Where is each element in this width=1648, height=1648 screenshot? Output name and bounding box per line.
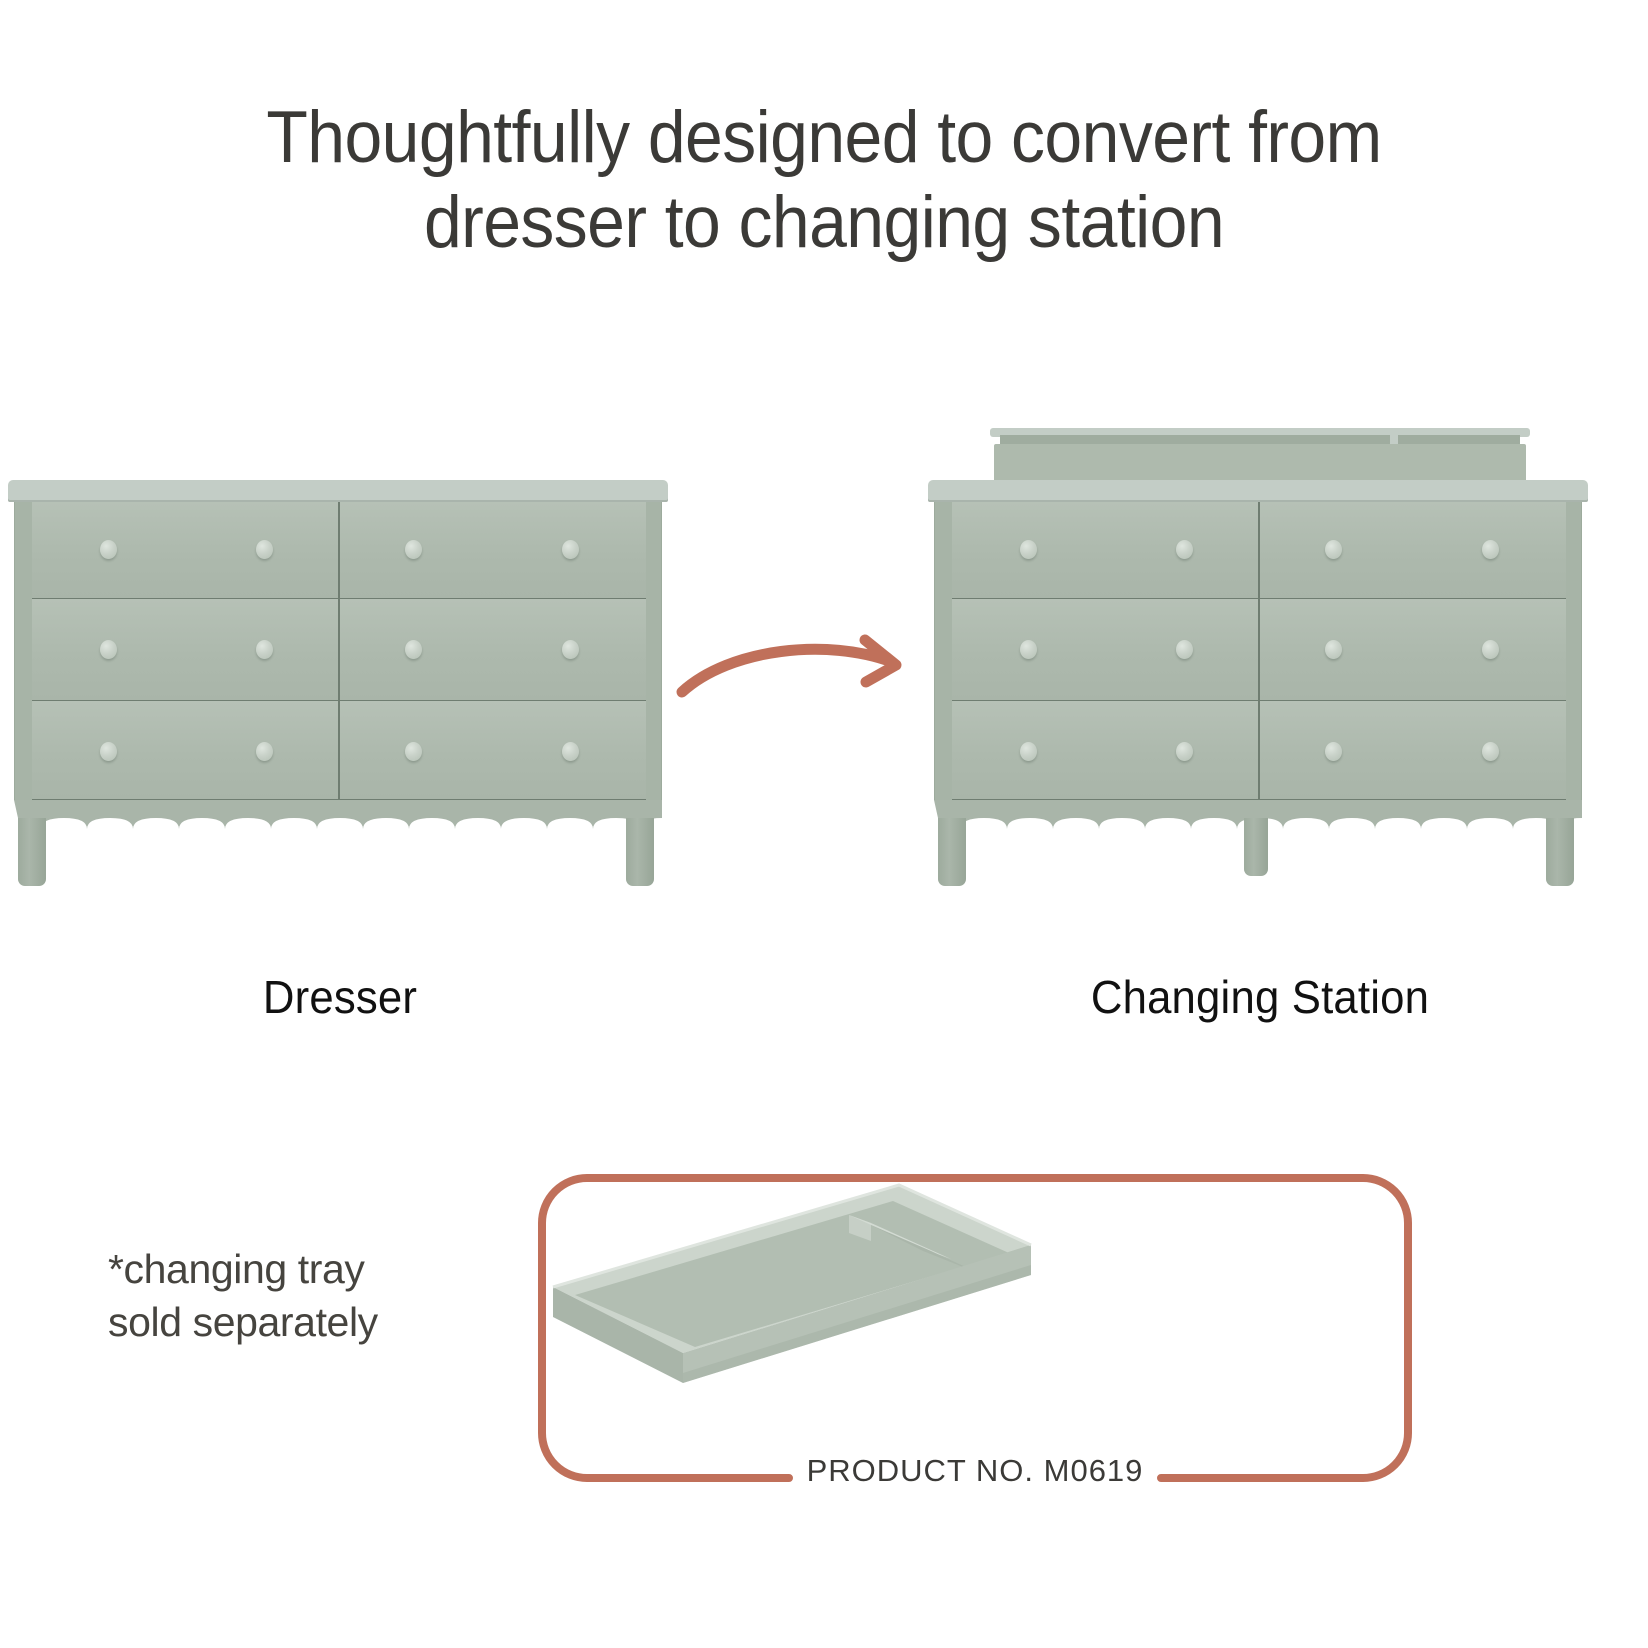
dresser-right-leg-front-right — [1546, 818, 1574, 886]
dresser-left-knob-3a[interactable] — [100, 640, 117, 659]
dresser-left-drawer-2[interactable] — [340, 502, 646, 599]
dresser-right-drawer-5[interactable] — [952, 701, 1259, 800]
dresser-right-illustration — [928, 480, 1592, 910]
convert-arrow — [660, 600, 960, 740]
dresser-left-knob-1a[interactable] — [100, 540, 117, 559]
dresser-left-drawer-5[interactable] — [32, 701, 339, 800]
dresser-left-knob-4a[interactable] — [405, 640, 422, 659]
dresser-right-knob-5a[interactable] — [1020, 742, 1037, 761]
dresser-left-knob-6b[interactable] — [562, 742, 579, 761]
footnote-line-2: sold separately — [108, 1296, 378, 1349]
dresser-left-knob-5a[interactable] — [100, 742, 117, 761]
dresser-right-leg-front-left — [938, 818, 966, 886]
dresser-right-leg-center — [1244, 818, 1268, 876]
dresser-left-leg-front-right — [626, 818, 654, 886]
changing-tray-footnote: *changing tray sold separately — [108, 1243, 378, 1350]
dresser-left-drawer-1[interactable] — [32, 502, 339, 599]
dresser-left-knob-5b[interactable] — [256, 742, 273, 761]
dresser-left-body — [14, 502, 662, 800]
dresser-right-drawer-1[interactable] — [952, 502, 1259, 599]
footnote-line-1: *changing tray — [108, 1243, 378, 1296]
dresser-right-stile-right — [1564, 502, 1581, 800]
dresser-left-knob-1b[interactable] — [256, 540, 273, 559]
changing-tray-3d-illustration — [531, 1167, 1051, 1397]
dresser-right-center-seam — [1258, 502, 1260, 800]
dresser-right-knob-1b[interactable] — [1176, 540, 1193, 559]
dresser-right-knob-2a[interactable] — [1325, 540, 1342, 559]
changing-tray-front-wall — [994, 444, 1526, 484]
dresser-right-knob-4a[interactable] — [1325, 640, 1342, 659]
dresser-left-stile-left — [15, 502, 32, 800]
dresser-right-knob-1a[interactable] — [1020, 540, 1037, 559]
dresser-right-drawer-3[interactable] — [952, 599, 1259, 701]
dresser-right-knob-6a[interactable] — [1325, 742, 1342, 761]
dresser-left-knob-6a[interactable] — [405, 742, 422, 761]
dresser-left-drawer-4[interactable] — [340, 599, 646, 701]
dresser-right-knob-3b[interactable] — [1176, 640, 1193, 659]
dresser-left-knob-2a[interactable] — [405, 540, 422, 559]
dresser-right-knob-6b[interactable] — [1482, 742, 1499, 761]
dresser-left-stile-right — [644, 502, 661, 800]
dresser-left-leg-front-left — [18, 818, 46, 886]
dresser-right-drawer-4[interactable] — [1260, 599, 1566, 701]
product-number-callout: PRODUCT NO. M0619 — [531, 1167, 1419, 1489]
dresser-left-scalloped-apron — [14, 800, 662, 840]
dresser-left-center-seam — [338, 502, 340, 800]
changing-tray-mounted — [990, 428, 1530, 484]
dresser-right-knob-4b[interactable] — [1482, 640, 1499, 659]
caption-changing-station: Changing Station — [899, 970, 1621, 1024]
dresser-right-body — [934, 502, 1582, 800]
dresser-left-drawer-6[interactable] — [340, 701, 646, 800]
dresser-left-knob-2b[interactable] — [562, 540, 579, 559]
dresser-left-illustration — [8, 480, 672, 910]
caption-dresser: Dresser — [17, 970, 663, 1024]
dresser-left-knob-4b[interactable] — [562, 640, 579, 659]
dresser-right-top-surface — [928, 480, 1588, 502]
dresser-left-knob-3b[interactable] — [256, 640, 273, 659]
dresser-left-top-surface — [8, 480, 668, 502]
dresser-right-knob-2b[interactable] — [1482, 540, 1499, 559]
dresser-right-knob-3a[interactable] — [1020, 640, 1037, 659]
dresser-left-drawer-3[interactable] — [32, 599, 339, 701]
product-number-label: PRODUCT NO. M0619 — [531, 1453, 1419, 1489]
dresser-right-drawer-6[interactable] — [1260, 701, 1566, 800]
dresser-right-drawer-2[interactable] — [1260, 502, 1566, 599]
dresser-right-knob-5b[interactable] — [1176, 742, 1193, 761]
